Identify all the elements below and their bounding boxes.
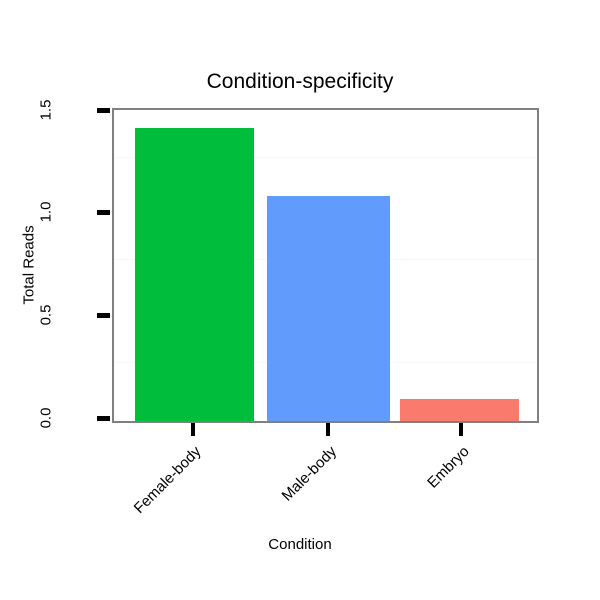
x-tick-label-text: Embryo (424, 443, 473, 492)
x-tick-mark-embryo (459, 423, 463, 436)
x-tick-label-text: Female-body (131, 443, 205, 517)
y-tick-mark-1.5 (97, 108, 110, 113)
x-tick-mark-female-body (191, 423, 195, 436)
y-axis: 1.5 1.0 0.5 0.0 (0, 0, 112, 600)
y-tick-mark-0.5 (97, 313, 110, 318)
chart-figure: Condition-specificity Total Reads 1.5 1.… (0, 0, 600, 600)
y-tick-mark-1.0 (97, 210, 110, 215)
x-axis-title: Condition (0, 536, 600, 553)
bar-embryo (400, 399, 520, 421)
plot-inner (114, 110, 537, 421)
bar-male-body (267, 196, 391, 421)
y-tick-label-text: 0.5 (38, 305, 55, 326)
bar-female-body (135, 128, 254, 421)
y-tick-label-text: 1.5 (38, 100, 55, 121)
x-tick-label-text: Male-body (278, 443, 340, 505)
plot-panel (112, 108, 539, 423)
y-tick-label-text: 1.0 (38, 202, 55, 223)
x-tick-mark-male-body (326, 423, 330, 436)
y-tick-mark-0.0 (97, 416, 110, 421)
y-tick-label-text: 0.0 (38, 408, 55, 429)
